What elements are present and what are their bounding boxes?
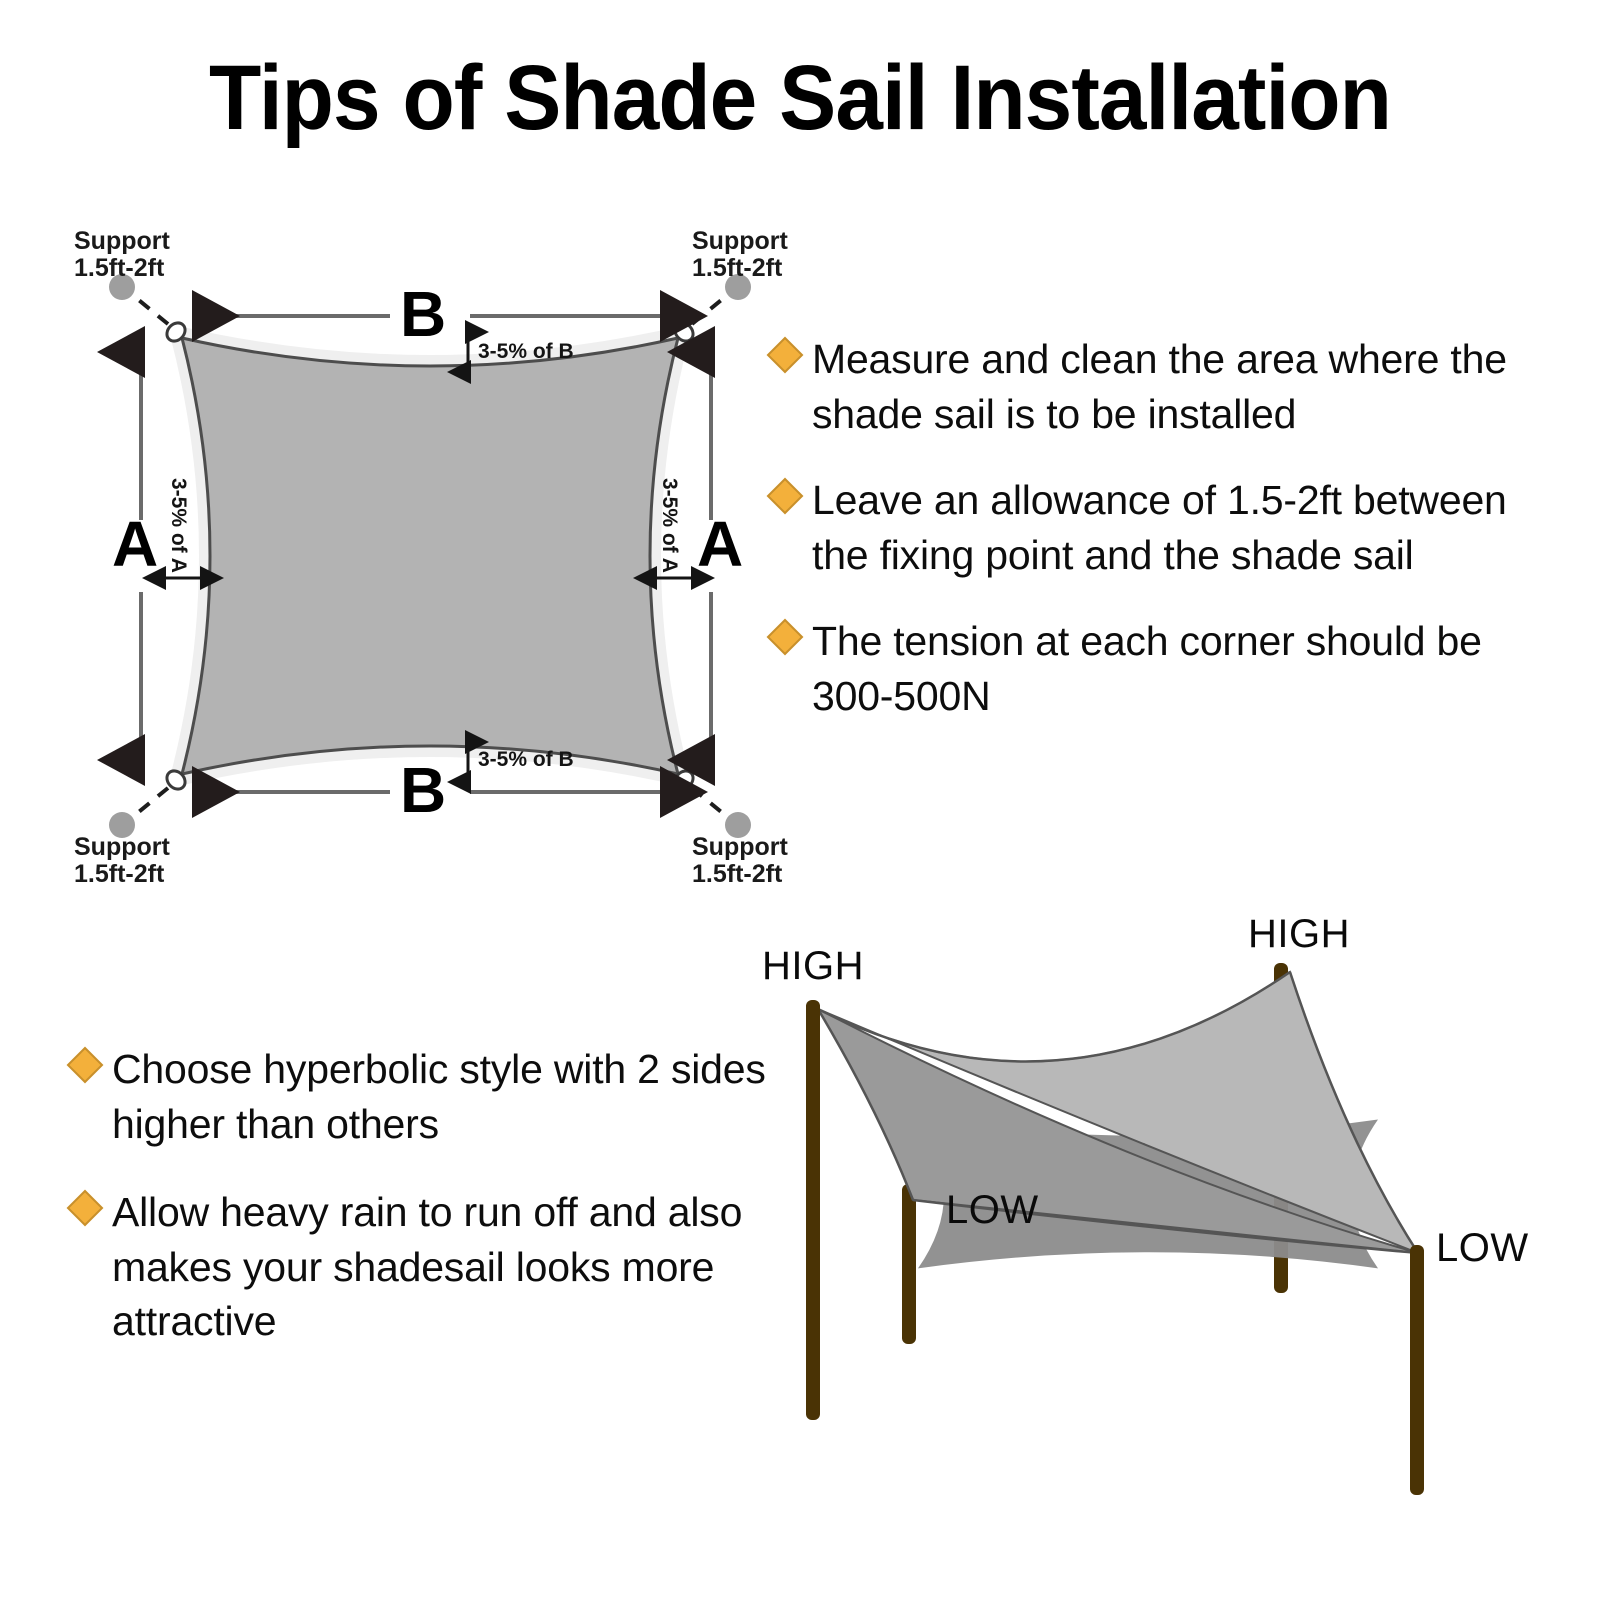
tip-text: Allow heavy rain to run off and also mak… [112, 1185, 792, 1349]
pct-label-a-left: 3-5% of A [166, 478, 190, 573]
tip-text: Measure and clean the area where the sha… [812, 332, 1532, 441]
pct-label-b-bottom: 3-5% of B [478, 748, 574, 772]
dimension-letter-a-right: A [697, 512, 743, 576]
diamond-bullet-icon [767, 337, 804, 374]
sail-edges [818, 972, 1418, 1253]
support-label-top-left: Support 1.5ft-2ft [74, 228, 170, 282]
corner-d-rings [163, 319, 696, 792]
tips-list-left: Choose hyperbolic style with 2 sides hig… [72, 1042, 792, 1383]
label-low-left: LOW [946, 1188, 1039, 1233]
list-item: Measure and clean the area where the sha… [772, 332, 1532, 441]
infographic-page: Tips of Shade Sail Installation [0, 0, 1600, 1600]
diamond-bullet-icon [67, 1047, 104, 1084]
pole-low-right [1410, 1245, 1424, 1495]
dimension-letter-b-top: B [400, 282, 446, 346]
pole-high-left [806, 1000, 820, 1420]
label-low-right: LOW [1436, 1226, 1529, 1271]
page-title: Tips of Shade Sail Installation [56, 46, 1544, 151]
list-item: Allow heavy rain to run off and also mak… [72, 1185, 792, 1349]
pct-label-b-top: 3-5% of B [478, 340, 574, 364]
list-item: Choose hyperbolic style with 2 sides hig… [72, 1042, 792, 1151]
list-item: The tension at each corner should be 300… [772, 614, 1532, 723]
support-dashed-lines [124, 288, 736, 824]
tip-text: Leave an allowance of 1.5-2ft between th… [812, 473, 1532, 582]
sail-panel-dark [818, 1009, 1418, 1253]
diamond-bullet-icon [767, 478, 804, 515]
label-high-left: HIGH [762, 944, 864, 989]
pole-low-left-top [902, 1184, 916, 1344]
tips-list-right: Measure and clean the area where the sha… [772, 332, 1532, 755]
tip-text: The tension at each corner should be 300… [812, 614, 1532, 723]
list-item: Leave an allowance of 1.5-2ft between th… [772, 473, 1532, 582]
support-label-bottom-right: Support 1.5ft-2ft [692, 834, 788, 888]
diamond-bullet-icon [67, 1190, 104, 1227]
dimension-letter-b-bottom: B [400, 758, 446, 822]
tip-text: Choose hyperbolic style with 2 sides hig… [112, 1042, 792, 1151]
support-label-top-right: Support 1.5ft-2ft [692, 228, 788, 282]
poles-front [806, 1000, 1424, 1495]
label-high-right: HIGH [1248, 912, 1350, 957]
sail-panel-light [818, 972, 1418, 1253]
pct-label-a-right: 3-5% of A [657, 478, 681, 573]
support-label-bottom-left: Support 1.5ft-2ft [74, 834, 170, 888]
sail-hem [178, 334, 682, 778]
diamond-bullet-icon [767, 619, 804, 656]
shade-sail-shape [182, 338, 678, 774]
dimension-letter-a-left: A [112, 512, 158, 576]
poles-back [902, 963, 1288, 1344]
pole-high-right [1274, 963, 1288, 1293]
